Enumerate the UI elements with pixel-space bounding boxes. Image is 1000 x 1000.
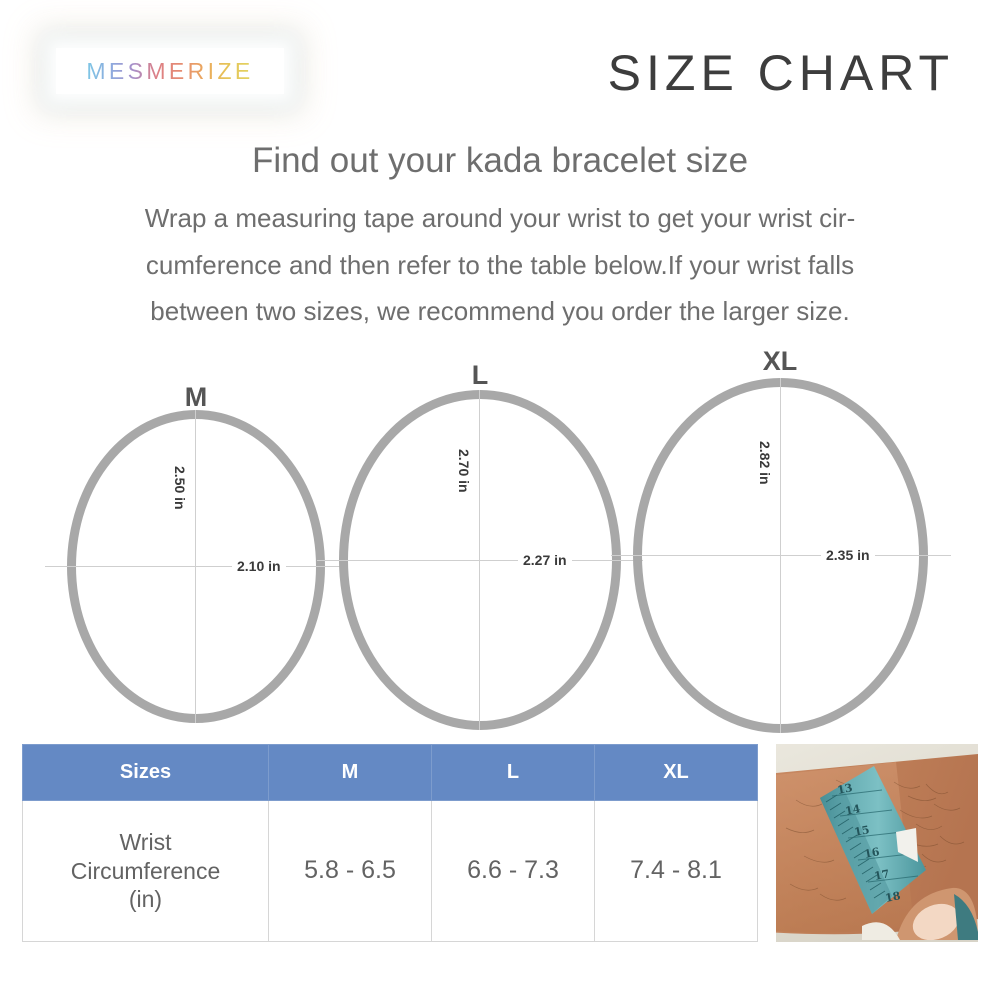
oval-group-m: M 2.50 in 2.10 in (67, 410, 337, 740)
oval-size-label-l: L (450, 360, 510, 391)
oval-diagram-section: M 2.50 in 2.10 in L 2.70 in 2.27 in XL 2… (0, 340, 1000, 740)
intro-line-2: cumference and then refer to the table b… (0, 242, 1000, 288)
wrist-photo-illustration: 13 14 15 16 17 18 (776, 744, 978, 942)
page-title: SIZE CHART (608, 44, 954, 102)
oval-group-xl: XL 2.82 in 2.35 in (633, 378, 938, 756)
oval-width-label-l: 2.27 in (518, 551, 572, 569)
oval-guide-horizontal-l (317, 560, 643, 561)
oval-height-label-l: 2.70 in (454, 448, 474, 494)
table-header-sizes: Sizes (23, 745, 269, 801)
intro-line-3: between two sizes, we recommend you orde… (0, 288, 1000, 334)
table-row: Wrist Circumference (in) 5.8 - 6.5 6.6 -… (23, 801, 758, 942)
table-header-l: L (432, 745, 595, 801)
oval-size-label-m: M (166, 382, 226, 413)
brand-logo-text: MESMERIZE (86, 58, 253, 85)
oval-size-label-xl: XL (750, 346, 810, 377)
table-cell-m: 5.8 - 6.5 (269, 801, 432, 942)
oval-guide-horizontal-m (45, 566, 345, 567)
intro-block: Find out your kada bracelet size Wrap a … (0, 140, 1000, 334)
table-row-label: Wrist Circumference (in) (23, 801, 269, 942)
table-row-label-line-1: Wrist (24, 828, 267, 857)
oval-group-l: L 2.70 in 2.27 in (339, 390, 629, 750)
table-cell-xl: 7.4 - 8.1 (595, 801, 758, 942)
oval-width-label-m: 2.10 in (232, 557, 286, 575)
table-header-xl: XL (595, 745, 758, 801)
wrist-measurement-photo: 13 14 15 16 17 18 (776, 744, 978, 942)
table-header-m: M (269, 745, 432, 801)
intro-heading: Find out your kada bracelet size (0, 140, 1000, 181)
table-cell-l: 6.6 - 7.3 (432, 801, 595, 942)
intro-line-1: Wrap a measuring tape around your wrist … (0, 195, 1000, 241)
oval-height-label-m: 2.50 in (170, 465, 190, 511)
table-row-label-line-2: Circumference (24, 857, 267, 886)
table-row-label-line-3: (in) (24, 885, 267, 914)
brand-logo: MESMERIZE (56, 48, 284, 94)
oval-width-label-xl: 2.35 in (821, 546, 875, 564)
oval-guide-horizontal-xl (611, 555, 951, 556)
table-header-row: Sizes M L XL (23, 745, 758, 801)
oval-height-label-xl: 2.82 in (755, 440, 775, 486)
size-table: Sizes M L XL Wrist Circumference (in) 5.… (22, 744, 758, 942)
